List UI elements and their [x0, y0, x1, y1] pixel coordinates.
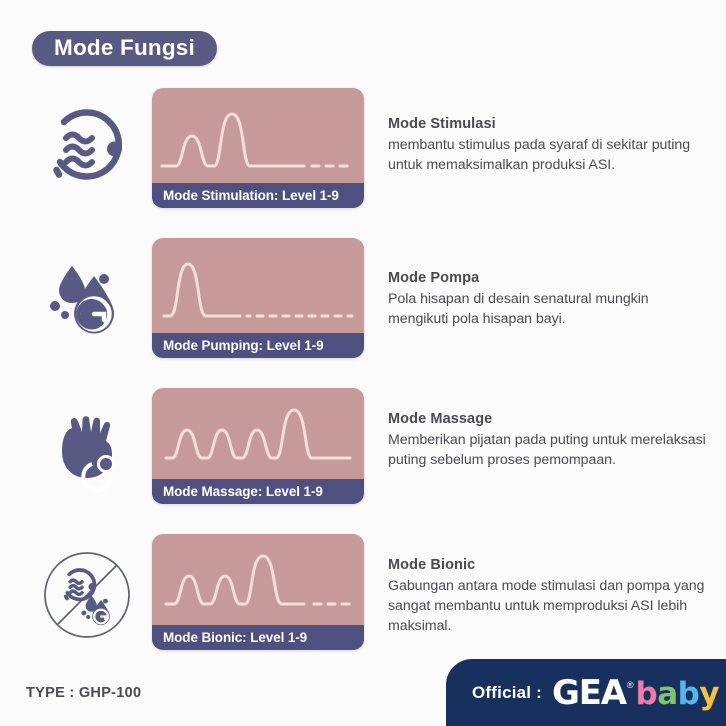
mode-row-stimulasi: Mode Stimulation: Level 1-9 Mode Stimula…: [0, 86, 726, 216]
mode-icon-cell: [32, 236, 142, 361]
waveform-card-label: Mode Stimulation: Level 1-9: [152, 183, 364, 208]
official-brand-badge: Official : GEA ® baby: [446, 659, 726, 726]
registered-trademark-icon: ®: [627, 681, 634, 690]
product-type-label: TYPE : GHP-100: [26, 685, 141, 701]
mode-description: membantu stimulus pada syaraf di sekitar…: [388, 135, 710, 175]
mode-text-cell: Mode Stimulasi membantu stimulus pada sy…: [388, 116, 710, 175]
baby-letter-3: b: [678, 676, 700, 712]
mode-text-cell: Mode Bionic Gabungan antara mode stimula…: [388, 557, 710, 636]
official-label: Official :: [472, 683, 542, 703]
baby-letter-2: a: [657, 676, 677, 712]
mode-title: Mode Pompa: [388, 270, 710, 286]
mode-text-cell: Mode Pompa Pola hisapan di desain senatu…: [388, 270, 710, 329]
waveform-card-pompa: Mode Pumping: Level 1-9: [152, 238, 364, 358]
mode-description: Gabungan antara mode stimulasi dan pompa…: [388, 576, 710, 636]
mode-description: Memberikan pijatan pada puting untuk mer…: [388, 430, 710, 470]
wave-circle-icon: [44, 106, 130, 192]
mode-icon-cell: [32, 532, 142, 657]
waveform-card-bionic: Mode Bionic: Level 1-9: [152, 534, 364, 650]
waveform-card-massage: Mode Massage: Level 1-9: [152, 388, 364, 504]
waveform-card-label: Mode Massage: Level 1-9: [152, 479, 364, 504]
waveform-card-label: Mode Bionic: Level 1-9: [152, 625, 364, 650]
gea-baby-logo: GEA ® baby: [552, 676, 719, 710]
mode-row-massage: Mode Massage: Level 1-9 Mode Massage Mem…: [0, 386, 726, 516]
mode-icon-cell: [32, 386, 142, 511]
mode-row-bionic: Mode Bionic: Level 1-9 Mode Bionic Gabun…: [0, 532, 726, 662]
waveform-card-label: Mode Pumping: Level 1-9: [152, 333, 364, 358]
water-droplet-g-icon: [44, 256, 130, 342]
mode-title: Mode Massage: [388, 411, 710, 427]
waveform-card-stimulasi: Mode Stimulation: Level 1-9: [152, 88, 364, 208]
mode-title: Mode Stimulasi: [388, 116, 710, 132]
mode-icon-cell: [32, 86, 142, 211]
baby-letter-1: b: [636, 676, 658, 712]
mode-description: Pola hisapan di desain senatural mungkin…: [388, 289, 710, 329]
gea-wordmark: GEA: [552, 676, 626, 710]
page-title-pill: Mode Fungsi: [32, 31, 217, 66]
baby-letter-4: y: [699, 676, 719, 712]
mode-text-cell: Mode Massage Memberikan pijatan pada put…: [388, 411, 710, 470]
hand-massage-icon: [44, 406, 130, 492]
page-title: Mode Fungsi: [54, 37, 195, 60]
mode-row-pompa: Mode Pumping: Level 1-9 Mode Pompa Pola …: [0, 236, 726, 366]
mode-title: Mode Bionic: [388, 557, 710, 573]
baby-wordmark: baby: [636, 679, 720, 710]
combined-bionic-icon: [39, 547, 135, 643]
